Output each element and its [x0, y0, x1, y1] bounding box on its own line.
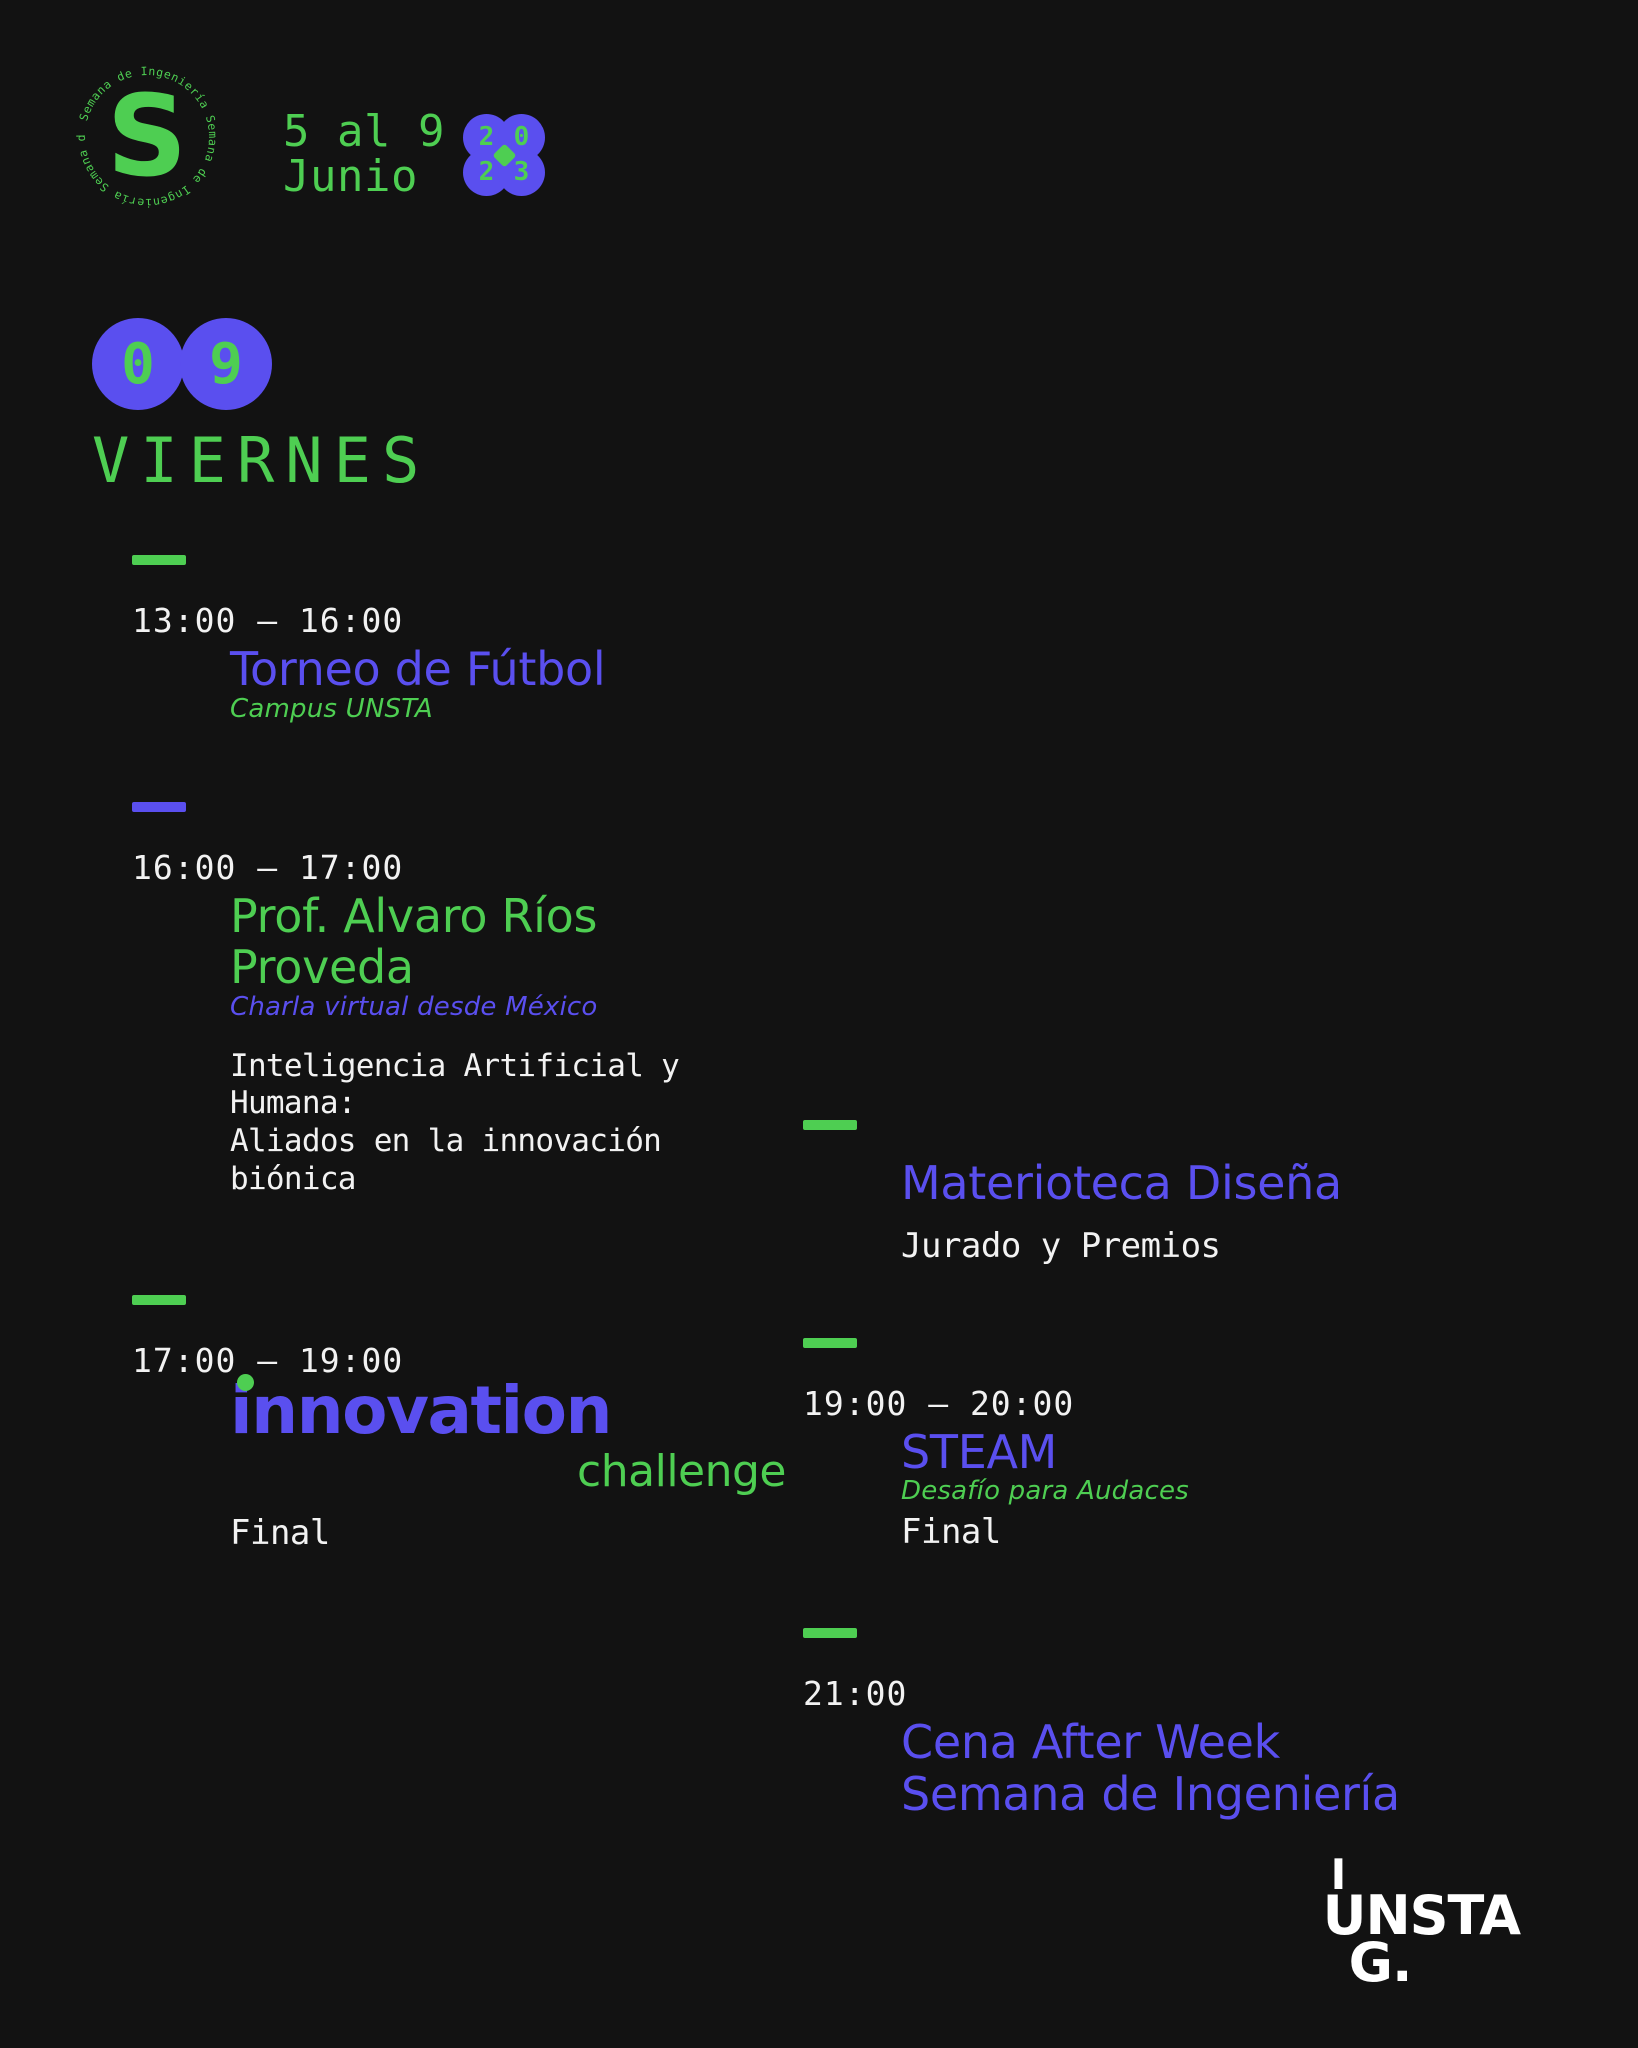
schedule-column-left: 13:00 — 16:00 Torneo de Fútbol Campus UN…: [132, 555, 792, 1553]
event-title: Materioteca Diseña: [901, 1158, 1523, 1210]
event-time: 19:00 — 20:00: [803, 1384, 1523, 1423]
event-subtitle: Desafío para Audaces: [901, 1476, 1523, 1506]
event-item: 16:00 — 17:00 Prof. Alvaro Ríos Proveda …: [132, 802, 792, 1199]
event-subtitle: Charla virtual desde México: [230, 992, 792, 1022]
event-rule: [803, 1628, 857, 1638]
date-range-text: 5 al 9Junio: [283, 110, 445, 200]
event-title: Prof. Alvaro Ríos Proveda: [230, 891, 792, 994]
year-2023-badge: 2 0 2 3: [463, 114, 545, 196]
event-rule: [803, 1120, 857, 1130]
event-note: Final: [901, 1512, 1523, 1552]
event-item: 19:00 — 20:00 STEAM Desafío para Audaces…: [803, 1338, 1523, 1553]
event-body: Torneo de Fútbol Campus UNSTA: [132, 644, 792, 724]
unsta-logo: I UNSTA G.: [1323, 1857, 1520, 1986]
event-rule: [132, 1295, 186, 1305]
event-note: Final: [230, 1513, 792, 1553]
date-line-1: 5 al 9: [283, 106, 445, 157]
event-item: Materioteca Diseña Jurado y Premios: [803, 1120, 1523, 1266]
event-time: 13:00 — 16:00: [132, 601, 792, 640]
event-subtitle: Campus UNSTA: [230, 694, 792, 724]
event-item: 21:00 Cena After Week Semana de Ingenier…: [803, 1628, 1523, 1820]
event-date-block: 5 al 9Junio 2 0 2 3: [283, 110, 545, 200]
event-body: Materioteca Diseña Jurado y Premios: [803, 1158, 1523, 1266]
event-title: Cena After Week Semana de Ingeniería: [901, 1717, 1523, 1820]
day-name-label: VIERNES: [92, 424, 430, 497]
seal-letter-s: S: [107, 72, 188, 202]
event-body: Cena After Week Semana de Ingeniería: [803, 1717, 1523, 1820]
event-body: innovation challenge Final: [132, 1378, 792, 1553]
schedule-column-right: Materioteca Diseña Jurado y Premios 19:0…: [803, 1120, 1523, 1820]
event-body: Prof. Alvaro Ríos Proveda Charla virtual…: [132, 891, 792, 1199]
innovation-challenge-lockup: innovation challenge: [230, 1378, 792, 1497]
poster-root: Semana de Ingeniería Semana de Ingenierí…: [0, 0, 1638, 2048]
event-rule: [803, 1338, 857, 1348]
event-description: Inteligencia Artificial y Humana: Aliado…: [230, 1048, 792, 1199]
event-item: 13:00 — 16:00 Torneo de Fútbol Campus UN…: [132, 555, 792, 724]
day-number-badge: 0 9: [92, 318, 430, 410]
event-rule: [132, 555, 186, 565]
day-digit-2: 9: [180, 318, 272, 410]
date-line-2: Junio: [283, 151, 418, 202]
event-title: Torneo de Fútbol: [230, 644, 792, 696]
green-dot-icon: [237, 1374, 254, 1391]
poster-header: Semana de Ingeniería Semana de Ingenierí…: [0, 0, 1638, 260]
challenge-label: challenge: [230, 1446, 792, 1497]
event-item: 17:00 — 19:00 innovation challenge Final: [132, 1295, 792, 1553]
event-body: STEAM Desafío para Audaces Final: [803, 1427, 1523, 1553]
innovation-wordmark: innovation: [230, 1378, 792, 1444]
event-rule: [132, 802, 186, 812]
day-heading: 0 9 VIERNES: [92, 318, 430, 497]
innovation-label: innovation: [230, 1372, 611, 1449]
event-time: 21:00: [803, 1674, 1523, 1713]
day-digit-1: 0: [92, 318, 184, 410]
event-title: STEAM: [901, 1427, 1523, 1479]
event-time: 16:00 — 17:00: [132, 848, 792, 887]
semana-ingenieria-seal-logo: Semana de Ingeniería Semana de Ingenierí…: [68, 58, 226, 216]
event-note: Jurado y Premios: [901, 1226, 1523, 1266]
